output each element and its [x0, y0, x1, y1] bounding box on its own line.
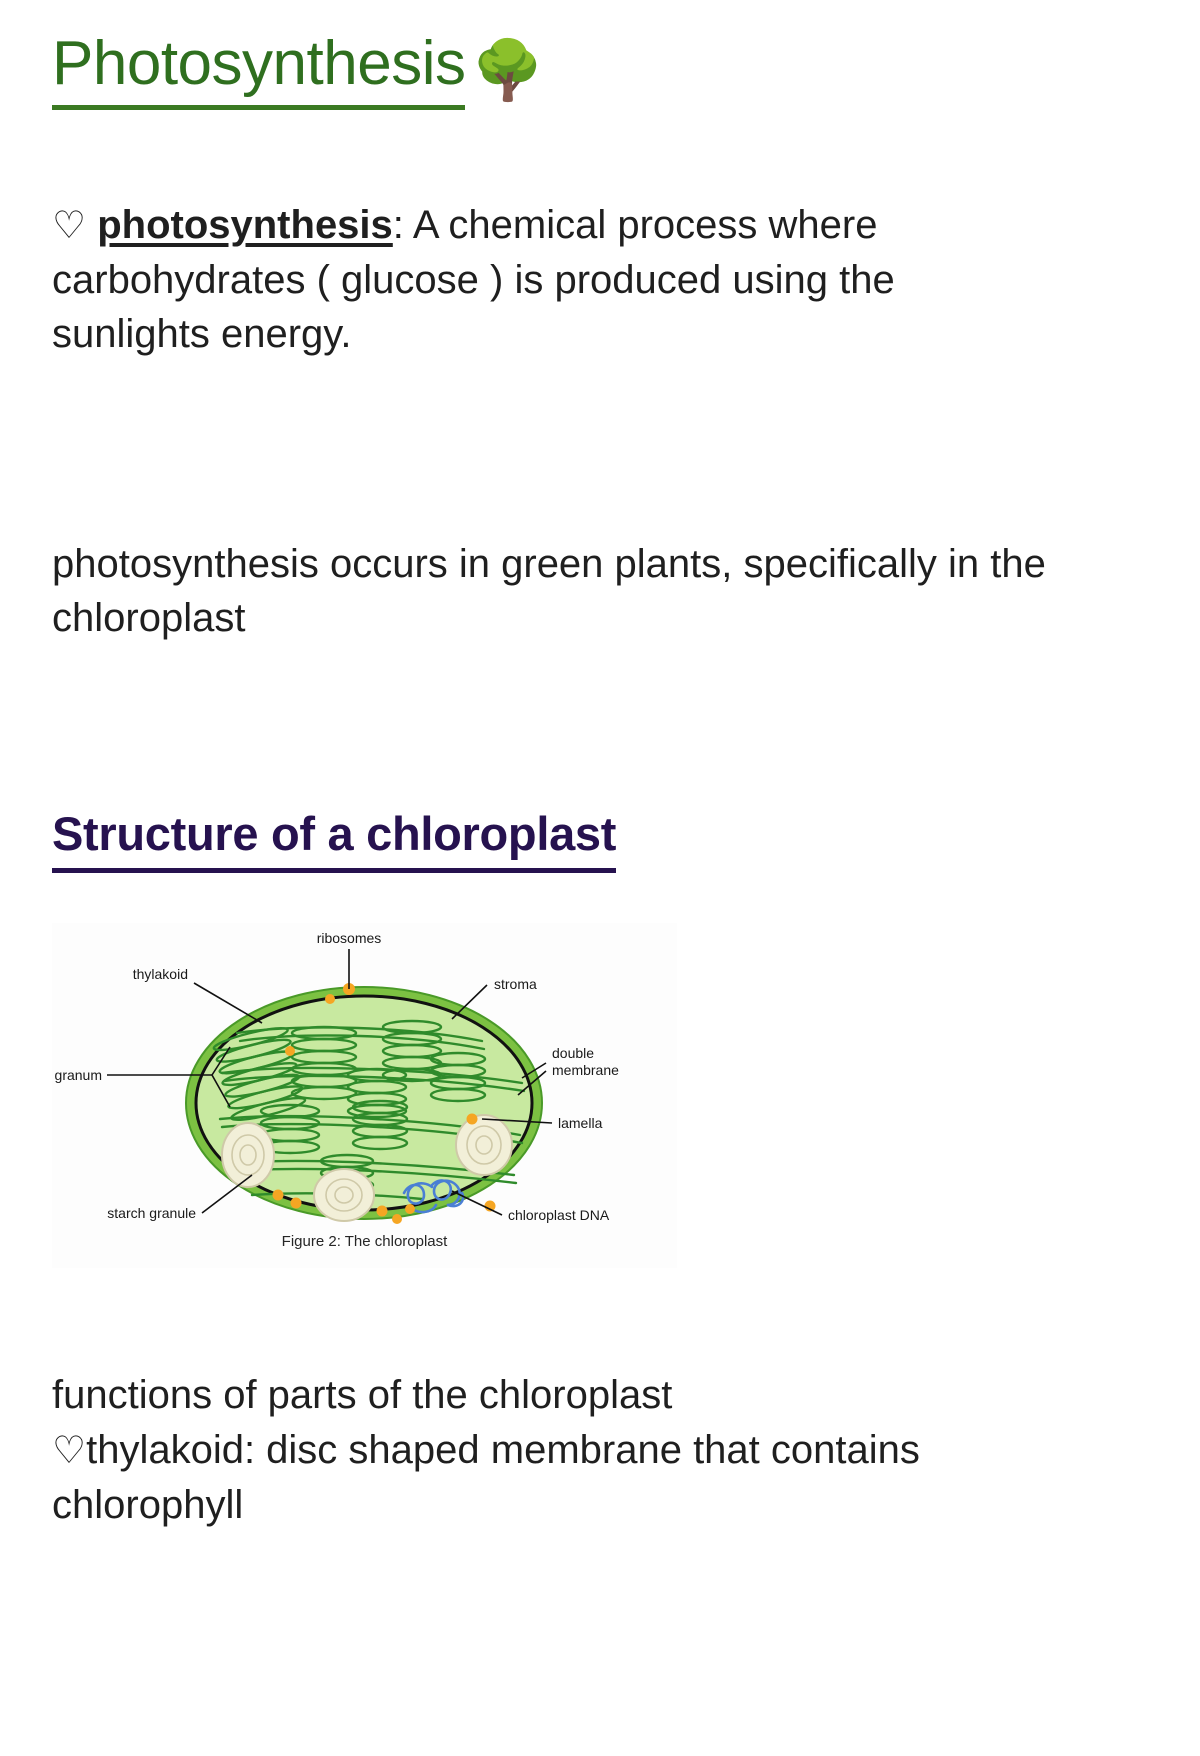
definition-term: photosynthesis	[97, 203, 393, 247]
thylakoid-function-line: thylakoid: disc shaped membrane that con…	[52, 1428, 920, 1527]
page-title-text: Photosynthesis	[52, 28, 465, 110]
label-lamella: lamella	[558, 1115, 603, 1131]
definition-paragraph: ♡ photosynthesis: A chemical process whe…	[52, 198, 1052, 361]
chloroplast-diagram-icon: ribosomes thylakoid stroma granum double…	[52, 923, 677, 1268]
tree-icon: 🌳	[471, 42, 543, 100]
document-page: Photosynthesis🌳 ♡ photosynthesis: A chem…	[0, 0, 1200, 1756]
label-double-membrane-line1: double	[552, 1045, 594, 1061]
heart-bullet-icon-2: ♡	[52, 1430, 86, 1472]
label-double-membrane-line2: membrane	[552, 1062, 619, 1078]
label-chloroplast-dna: chloroplast DNA	[508, 1207, 610, 1223]
heart-bullet-icon: ♡	[52, 205, 86, 247]
section-heading-structure: Structure of a chloroplast	[52, 646, 1148, 873]
functions-paragraph: functions of parts of the chloroplast♡th…	[52, 1368, 1052, 1534]
occurrence-paragraph: photosynthesis occurs in green plants, s…	[52, 537, 1052, 646]
label-starch-granule: starch granule	[107, 1205, 196, 1221]
chloroplast-figure: ribosomes thylakoid stroma granum double…	[52, 923, 677, 1268]
page-title: Photosynthesis🌳	[52, 0, 1148, 110]
label-granum: granum	[55, 1067, 102, 1083]
label-stroma: stroma	[494, 976, 537, 992]
section-heading-text: Structure of a chloroplast	[52, 806, 616, 873]
figure-caption: Figure 2: The chloroplast	[52, 1233, 677, 1250]
functions-heading-line: functions of parts of the chloroplast	[52, 1373, 672, 1417]
label-ribosomes: ribosomes	[317, 930, 382, 946]
label-thylakoid: thylakoid	[133, 966, 188, 982]
